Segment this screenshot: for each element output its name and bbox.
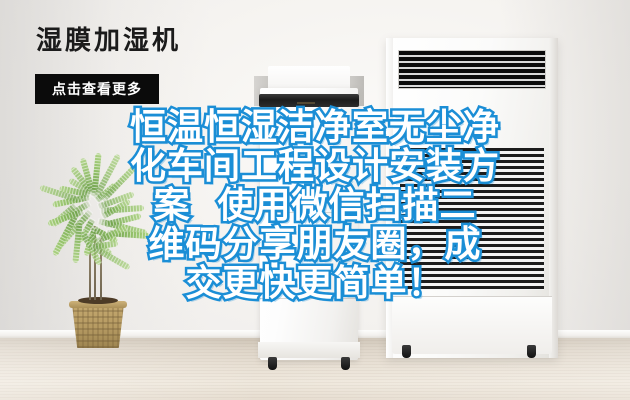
humidifier-unit-right	[386, 38, 558, 374]
promo-banner: 湿膜加湿机 点击查看更多 恒温恒湿洁净室无尘净 化车间工程设计安装方 案 使用微…	[0, 0, 630, 400]
wicker-pot	[72, 304, 124, 348]
caster-icon	[402, 345, 411, 358]
caster-icon	[341, 357, 350, 370]
humidifier-unit-left	[254, 62, 364, 370]
potted-palm-plant	[36, 178, 158, 348]
unit-left-control-bar	[259, 94, 359, 107]
scene-photo	[0, 0, 630, 400]
unit-right-top-grille	[398, 50, 546, 89]
pot-soil	[78, 297, 118, 304]
unit-left-body	[260, 88, 358, 360]
caster-icon	[268, 357, 277, 370]
unit-left-base	[258, 342, 360, 358]
unit-right-louver-panel	[400, 148, 544, 290]
page-title: 湿膜加湿机	[36, 28, 181, 54]
view-more-button[interactable]: 点击查看更多	[35, 74, 159, 104]
unit-left-seam	[260, 212, 358, 213]
caster-icon	[527, 345, 536, 358]
unit-left-seam	[260, 298, 358, 299]
